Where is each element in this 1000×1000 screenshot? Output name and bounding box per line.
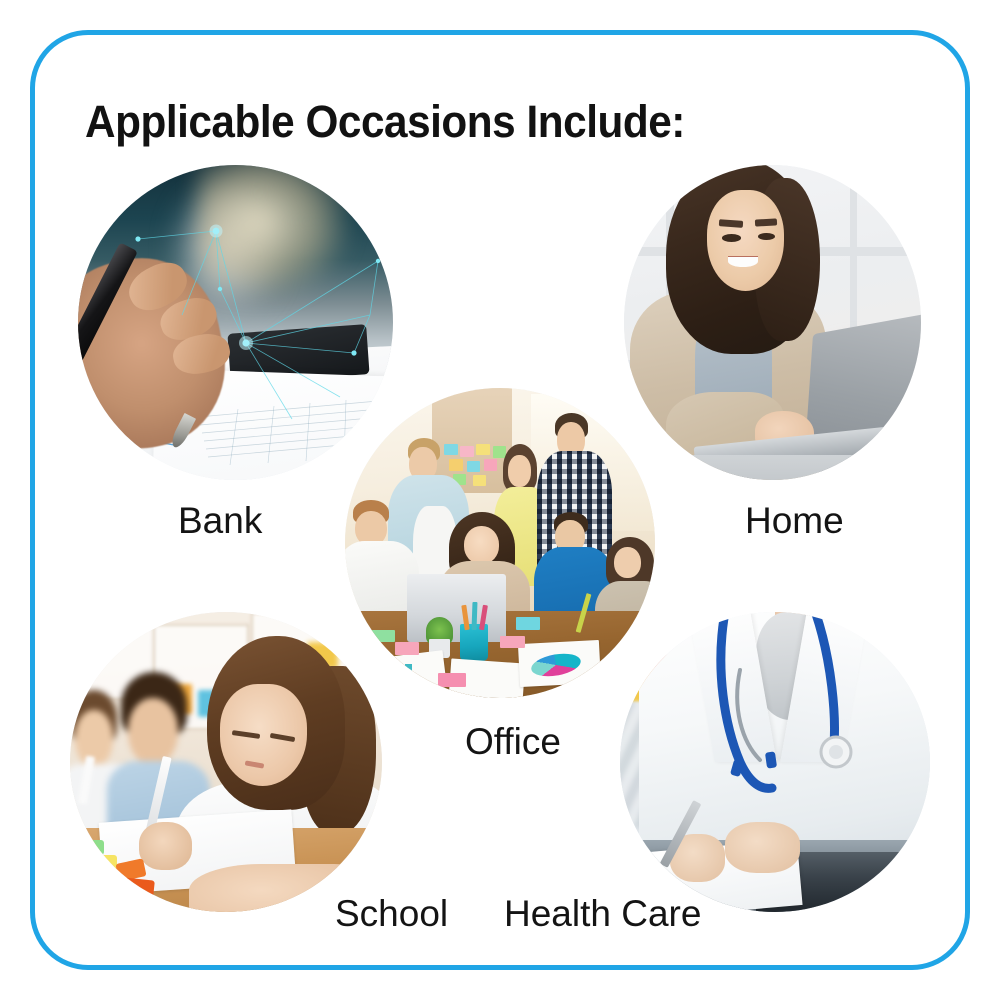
page-title: Applicable Occasions Include: (85, 96, 685, 148)
occasion-label-office: Office (465, 721, 561, 763)
occasion-label-bank: Bank (178, 500, 262, 542)
occasion-image-health-care (620, 612, 930, 912)
occasion-image-home (624, 165, 921, 480)
occasion-label-home: Home (745, 500, 844, 542)
occasion-label-health-care: Health Care (504, 893, 701, 935)
promo-banner: Applicable Occasions Include: (0, 0, 1000, 1000)
occasion-image-school (70, 612, 382, 912)
occasion-image-office (345, 388, 655, 698)
occasion-label-school: School (335, 893, 448, 935)
